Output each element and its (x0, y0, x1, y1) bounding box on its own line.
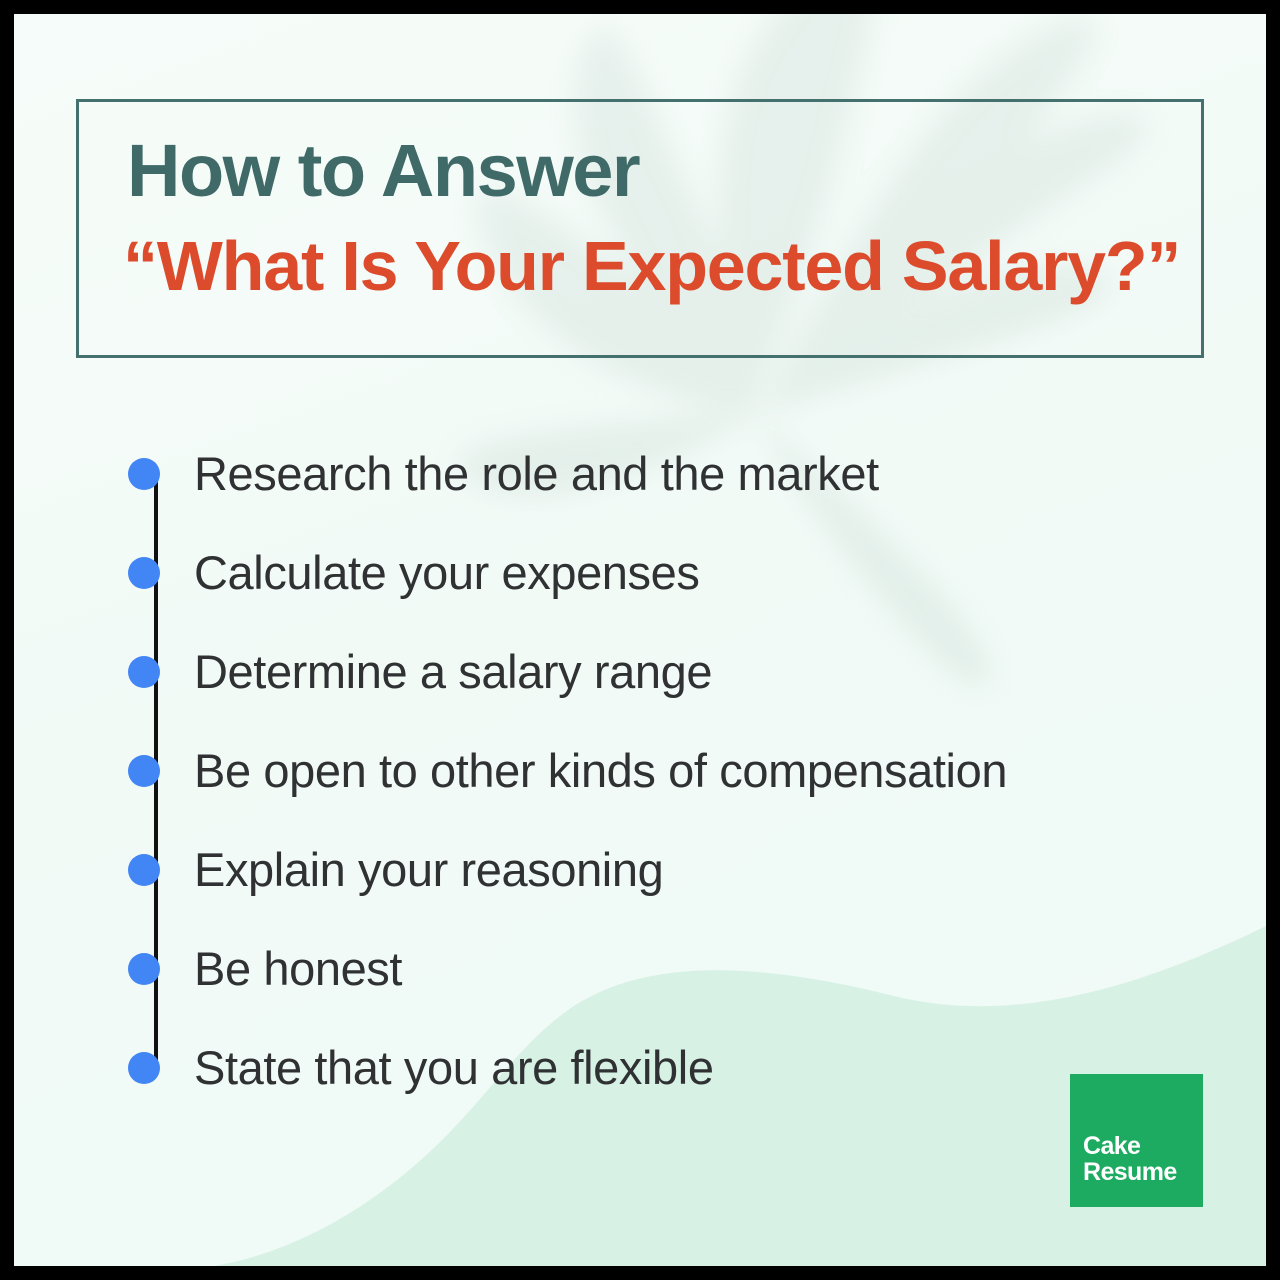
list-item-label: Calculate your expenses (194, 549, 699, 596)
list-item: Calculate your expenses (128, 523, 1208, 622)
list-item: Research the role and the market (128, 424, 1208, 523)
poster-card: How to Answer “What Is Your Expected Sal… (14, 14, 1266, 1266)
bullet-dot-icon (128, 755, 160, 787)
list-item: Be honest (128, 919, 1208, 1018)
list-item-label: Be honest (194, 945, 402, 992)
bullet-dot-icon (128, 953, 160, 985)
poster-outer-matte: How to Answer “What Is Your Expected Sal… (0, 0, 1280, 1280)
cakeresume-logo: Cake Resume (1070, 1074, 1203, 1207)
bullet-dot-icon (128, 557, 160, 589)
list-item-label: State that you are flexible (194, 1044, 714, 1091)
bullet-dot-icon (128, 458, 160, 490)
list-item-label: Be open to other kinds of compensation (194, 747, 1007, 794)
list-item-label: Research the role and the market (194, 450, 879, 497)
bullet-dot-icon (128, 854, 160, 886)
heading-box: How to Answer “What Is Your Expected Sal… (76, 99, 1204, 358)
logo-wordmark: Cake Resume (1083, 1134, 1177, 1185)
page-title-secondary: “What Is Your Expected Salary?” (123, 231, 1180, 301)
steps-list: Research the role and the market Calcula… (128, 424, 1208, 1117)
list-item: Determine a salary range (128, 622, 1208, 721)
list-item-label: Determine a salary range (194, 648, 712, 695)
bullet-dot-icon (128, 1052, 160, 1084)
list-item: Be open to other kinds of compensation (128, 721, 1208, 820)
page-title-primary: How to Answer (127, 134, 639, 208)
bullet-dot-icon (128, 656, 160, 688)
list-item-label: Explain your reasoning (194, 846, 663, 893)
list-item: Explain your reasoning (128, 820, 1208, 919)
list-item: State that you are flexible (128, 1018, 1208, 1117)
